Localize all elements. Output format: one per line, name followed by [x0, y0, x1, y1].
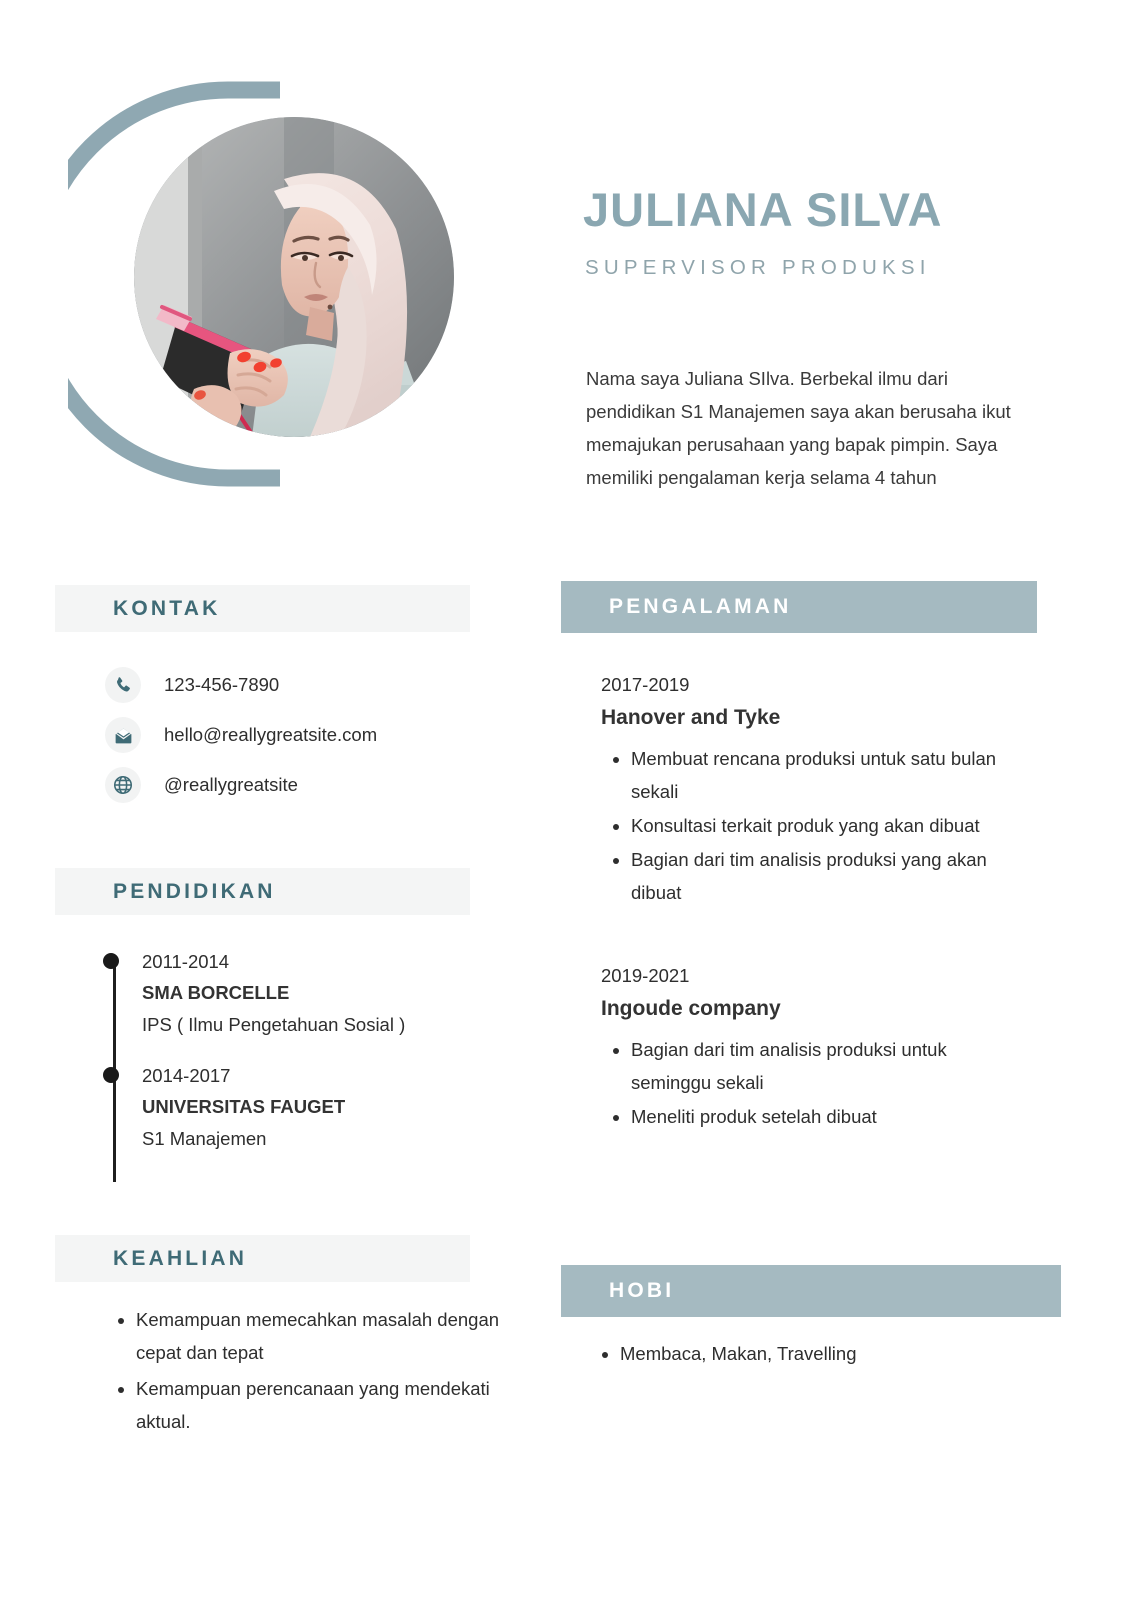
list-item: Bagian dari tim analisis produksi untuk … — [631, 1033, 1031, 1099]
education-years: 2011-2014 — [142, 948, 508, 976]
section-header-hobi: HOBI — [561, 1265, 1061, 1317]
section-title-kontak: KONTAK — [55, 597, 220, 621]
education-item: 2011-2014 SMA BORCELLE IPS ( Ilmu Penget… — [108, 948, 508, 1040]
education-major: IPS ( Ilmu Pengetahuan Sosial ) — [142, 1009, 508, 1040]
timeline-dot-icon — [103, 1067, 119, 1083]
timeline-dot-icon — [103, 953, 119, 969]
experience-list: 2017-2019 Hanover and Tyke Membuat renca… — [601, 670, 1031, 1185]
list-item: Bagian dari tim analisis produksi yang a… — [631, 843, 1031, 909]
education-years: 2014-2017 — [142, 1062, 508, 1090]
email-icon — [105, 717, 141, 753]
avatar — [134, 117, 454, 437]
job-title: SUPERVISOR PRODUKSI — [585, 256, 931, 280]
resume-page: JULIANA SILVA SUPERVISOR PRODUKSI Nama s… — [0, 0, 1131, 1600]
experience-bullets: Bagian dari tim analisis produksi untuk … — [601, 1033, 1031, 1133]
list-item: Membuat rencana produksi untuk satu bula… — [631, 742, 1031, 808]
hobby-list: Membaca, Makan, Travelling — [590, 1338, 857, 1370]
education-timeline: 2011-2014 SMA BORCELLE IPS ( Ilmu Penget… — [108, 948, 508, 1176]
education-school: SMA BORCELLE — [142, 976, 508, 1009]
list-item: Membaca, Makan, Travelling — [620, 1338, 857, 1370]
section-header-kontak: KONTAK — [55, 585, 470, 632]
avatar-image — [134, 117, 454, 437]
education-item: 2014-2017 UNIVERSITAS FAUGET S1 Manajeme… — [108, 1062, 508, 1154]
section-header-pendidikan: PENDIDIKAN — [55, 868, 470, 915]
section-header-pengalaman: PENGALAMAN — [561, 581, 1037, 633]
contact-value-email: hello@reallygreatsite.com — [164, 724, 377, 746]
list-item: Meneliti produk setelah dibuat — [631, 1100, 1031, 1133]
education-major: S1 Manajemen — [142, 1123, 508, 1154]
section-title-pendidikan: PENDIDIKAN — [55, 880, 276, 904]
profile-summary: Nama saya Juliana SIlva. Berbekal ilmu d… — [586, 362, 1041, 494]
experience-item: 2017-2019 Hanover and Tyke Membuat renca… — [601, 670, 1031, 909]
list-item: Kemampuan perencanaan yang mendekati akt… — [136, 1372, 516, 1438]
education-school: UNIVERSITAS FAUGET — [142, 1090, 508, 1123]
section-title-pengalaman: PENGALAMAN — [561, 595, 792, 619]
section-title-keahlian: KEAHLIAN — [55, 1247, 247, 1271]
contact-value-website: @reallygreatsite — [164, 774, 298, 796]
profile-photo-block — [48, 62, 388, 512]
list-item: Konsultasi terkait produk yang akan dibu… — [631, 809, 1031, 842]
experience-bullets: Membuat rencana produksi untuk satu bula… — [601, 742, 1031, 909]
contact-item-email[interactable]: hello@reallygreatsite.com — [105, 710, 377, 760]
experience-years: 2017-2019 — [601, 670, 1031, 700]
globe-icon — [105, 767, 141, 803]
page-title: JULIANA SILVA — [583, 182, 942, 237]
contact-item-phone[interactable]: 123-456-7890 — [105, 660, 377, 710]
experience-item: 2019-2021 Ingoude company Bagian dari ti… — [601, 961, 1031, 1133]
contact-list: 123-456-7890 hello@reallygreatsite.com — [105, 660, 377, 810]
experience-company: Hanover and Tyke — [601, 700, 1031, 736]
section-header-keahlian: KEAHLIAN — [55, 1235, 470, 1282]
experience-company: Ingoude company — [601, 991, 1031, 1027]
skills-list: Kemampuan memecahkan masalah dengan cepa… — [108, 1303, 516, 1441]
contact-value-phone: 123-456-7890 — [164, 674, 279, 696]
contact-item-website[interactable]: @reallygreatsite — [105, 760, 377, 810]
list-item: Kemampuan memecahkan masalah dengan cepa… — [136, 1303, 516, 1369]
section-title-hobi: HOBI — [561, 1279, 674, 1303]
experience-years: 2019-2021 — [601, 961, 1031, 991]
phone-icon — [105, 667, 141, 703]
